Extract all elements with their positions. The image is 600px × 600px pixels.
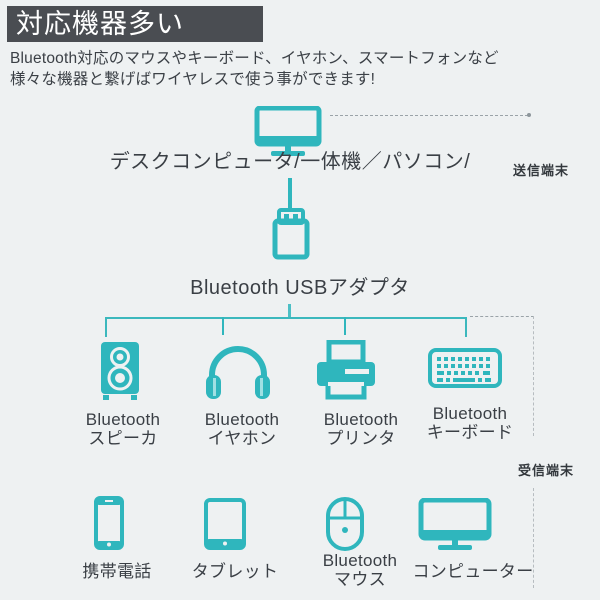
- device-label-mobile-phone: 携帯電話: [52, 562, 182, 581]
- page-title-bar: 対応機器多い: [7, 6, 263, 42]
- row1-bracket-tick-2: [222, 317, 224, 335]
- adapter-label: Bluetooth USBアダプタ: [150, 276, 450, 300]
- transmitter-dashed-connector: [330, 115, 528, 116]
- receiver-dashed-top: [470, 316, 534, 317]
- device-label-mouse-line2: マウス: [334, 570, 386, 589]
- device-label-earphone: Bluetoothイヤホン: [177, 410, 307, 448]
- smartphone-icon: [93, 496, 125, 550]
- page-title: 対応機器多い: [7, 11, 184, 38]
- keyboard-icon: [428, 347, 502, 389]
- device-label-speaker: Bluetoothスピーカ: [58, 410, 188, 448]
- printer-icon: [315, 340, 377, 400]
- tablet-icon: [203, 498, 247, 550]
- subtitle-line-1: Bluetooth対応のマウスやキーボード、イヤホン、スマートフォンなど: [10, 48, 570, 69]
- receiver-label: 受信端末: [518, 460, 574, 479]
- mouse-icon: [325, 497, 365, 551]
- device-label-speaker-line2: スピーカ: [88, 429, 157, 448]
- computer-monitor-icon: [418, 498, 492, 552]
- infographic-canvas: 対応機器多い Bluetooth対応のマウスやキーボード、イヤホン、スマートフォ…: [0, 0, 600, 600]
- device-label-earphone-line2: イヤホン: [208, 429, 277, 448]
- headphones-icon: [203, 345, 273, 401]
- device-label-keyboard-line1: Bluetooth: [433, 404, 508, 423]
- usb-adapter-icon: [270, 204, 312, 262]
- transmitter-label: 送信端末: [513, 160, 569, 179]
- row1-bracket-tick-3: [344, 317, 346, 335]
- device-label-mouse-line1: Bluetooth: [323, 551, 398, 570]
- host-label: デスクコンピュータ/一体機／パソコン/: [80, 150, 500, 174]
- subtitle-line-2: 様々な機器と繋げばワイヤレスで使う事ができます!: [10, 69, 570, 90]
- device-label-printer-line2: プリンタ: [326, 429, 395, 448]
- transmitter-dashed-endpoint: [527, 113, 531, 117]
- device-label-computer: コンピューター: [398, 562, 548, 581]
- device-label-keyboard-line2: キーボード: [427, 423, 514, 442]
- device-label-printer-line1: Bluetooth: [324, 410, 399, 429]
- device-label-earphone-line1: Bluetooth: [205, 410, 280, 429]
- adapter-to-bracket-line: [288, 304, 291, 318]
- device-label-tablet: タブレット: [170, 562, 300, 581]
- device-label-keyboard: Bluetoothキーボード: [400, 404, 540, 442]
- speaker-icon: [92, 340, 150, 402]
- device-label-speaker-line1: Bluetooth: [86, 410, 161, 429]
- row1-bracket: [105, 317, 467, 337]
